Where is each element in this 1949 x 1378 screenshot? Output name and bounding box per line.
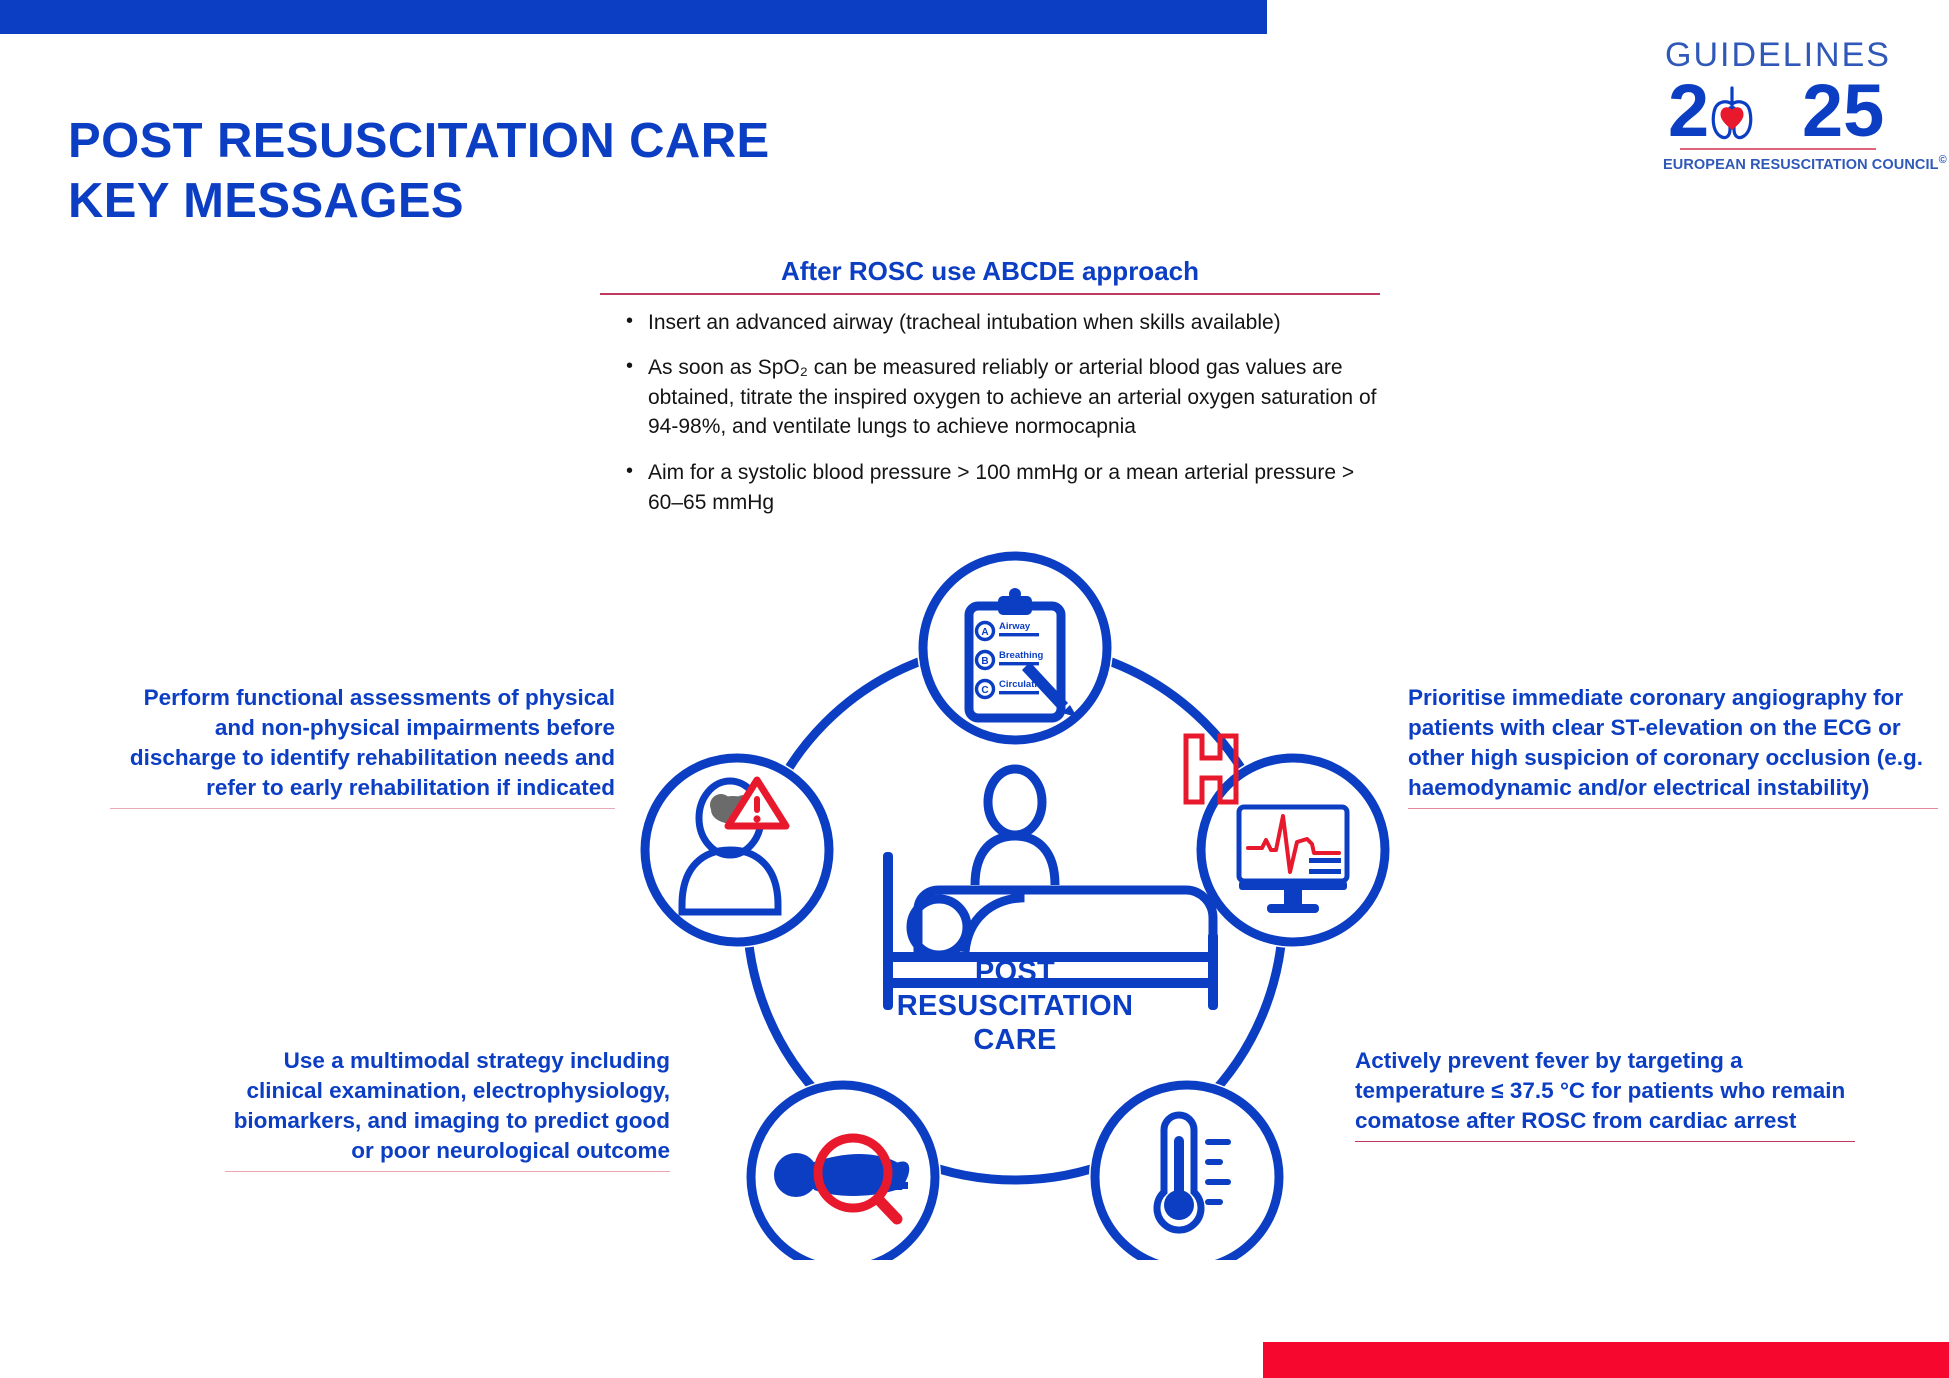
- message-rehabilitation-text: Perform functional assessments of physic…: [110, 683, 615, 803]
- bottom-red-bar: [1263, 1342, 1949, 1378]
- svg-text:2: 2: [1668, 74, 1709, 146]
- logo-year-2025: 2 25: [1663, 74, 1893, 146]
- logo-divider: [1680, 148, 1876, 150]
- abcde-bullet-1: Insert an advanced airway (tracheal intu…: [622, 308, 1380, 338]
- abcde-panel-title: After ROSC use ABCDE approach: [600, 256, 1380, 293]
- page-title-line1: POST RESUSCITATION CARE: [68, 114, 770, 168]
- node-abcde-checklist[interactable]: A Airway B Breathing C Circulation: [923, 556, 1107, 740]
- page-title: POST RESUSCITATION CARE KEY MESSAGES: [68, 112, 770, 232]
- abcde-bullet-2: As soon as SpO₂ can be measured reliably…: [622, 353, 1380, 442]
- svg-text:Airway: Airway: [999, 621, 1031, 632]
- node-prognostication[interactable]: [751, 1085, 935, 1260]
- message-angiography: Prioritise immediate coronary angiograph…: [1408, 683, 1938, 809]
- node-circle: [1201, 758, 1385, 942]
- node-coronary-angiography[interactable]: [1201, 758, 1385, 942]
- svg-text:C: C: [981, 685, 988, 696]
- message-angiography-underline: [1408, 808, 1938, 810]
- message-fever-text: Actively prevent fever by targeting a te…: [1355, 1046, 1855, 1136]
- message-rehabilitation: Perform functional assessments of physic…: [110, 683, 615, 809]
- node-circle: [1095, 1085, 1279, 1260]
- svg-text:B: B: [981, 656, 988, 667]
- heart-icon: [1720, 107, 1743, 130]
- page-title-line2: KEY MESSAGES: [68, 172, 770, 232]
- svg-text:25: 25: [1802, 74, 1884, 146]
- message-angiography-text: Prioritise immediate coronary angiograph…: [1408, 683, 1938, 803]
- abcde-panel: After ROSC use ABCDE approach Insert an …: [600, 256, 1380, 533]
- message-rehabilitation-underline: [110, 808, 615, 810]
- node-fever-control[interactable]: [1095, 1085, 1279, 1260]
- logo-council-text: EUROPEAN RESUSCITATION COUNCIL©: [1663, 154, 1893, 173]
- patient-in-hospital-bed-icon: [883, 736, 1236, 1010]
- abcde-divider: [600, 293, 1380, 295]
- post-resuscitation-care-diagram: A Airway B Breathing C Circulation: [600, 500, 1430, 1260]
- erc-logo: GUIDELINES 2 25 EUROPEAN RESUSCITATION C…: [1663, 38, 1893, 173]
- message-fever: Actively prevent fever by targeting a te…: [1355, 1046, 1855, 1142]
- svg-text:A: A: [981, 627, 988, 638]
- svg-text:Breathing: Breathing: [999, 650, 1044, 661]
- top-blue-bar: [0, 0, 1267, 34]
- abcde-bullet-list: Insert an advanced airway (tracheal intu…: [600, 308, 1380, 518]
- node-rehabilitation[interactable]: [645, 758, 829, 942]
- logo-guidelines-text: GUIDELINES: [1663, 38, 1893, 72]
- node-circle: [923, 556, 1107, 740]
- message-fever-underline: [1355, 1141, 1855, 1143]
- lungs-heart-icon: 2 25: [1666, 74, 1890, 146]
